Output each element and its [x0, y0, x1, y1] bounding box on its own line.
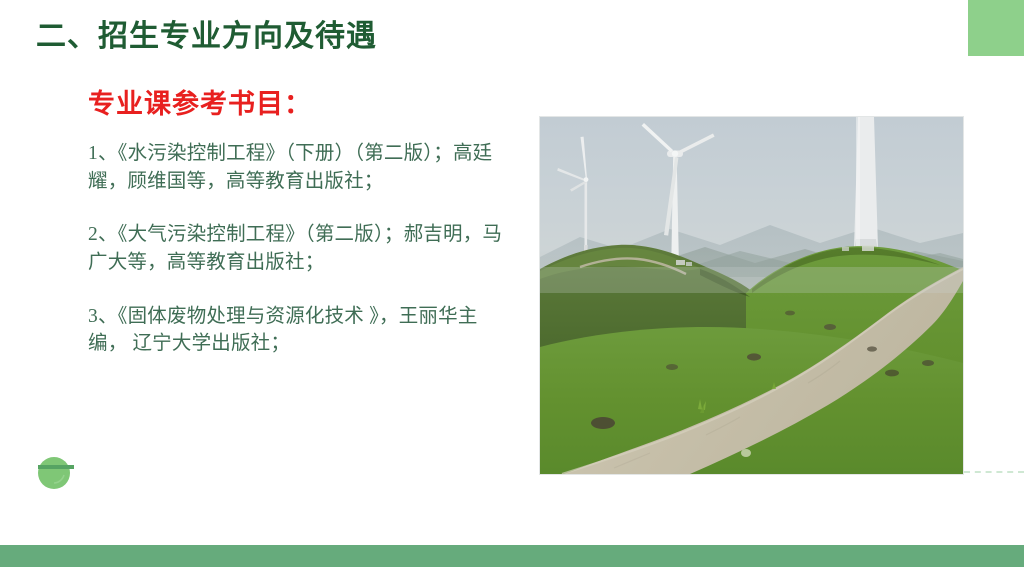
- list-item: 1、《水污染控制工程》（下册）（第二版）；高廷耀，顾维国等，高等教育出版社；: [88, 140, 508, 195]
- list-item: 3、《固体废物处理与资源化技术 》，王丽华主编， 辽宁大学出版社；: [88, 303, 508, 358]
- list-item: 2、《大气污染控制工程》（第二版）；郝吉明，马广大等，高等教育出版社；: [88, 221, 508, 276]
- wind-turbine-photo: [540, 117, 963, 474]
- bottom-green-bar: [0, 545, 1024, 567]
- pot-icon-graphic: [33, 453, 79, 491]
- wind-turbine-right: [854, 117, 878, 251]
- page-title: 二、招生专业方向及待遇: [36, 18, 377, 56]
- slide-canvas: 二、招生专业方向及待遇 专业课参考书目： 1、《水污染控制工程》（下册）（第二版…: [0, 0, 1024, 567]
- dashed-rule: [964, 471, 1024, 473]
- wind-turbine-photo-graphic: [540, 117, 963, 474]
- section-subtitle: 专业课参考书目：: [88, 88, 312, 122]
- corner-green-block: [968, 0, 1024, 56]
- pot-icon: [33, 453, 79, 491]
- reference-book-list: 1、《水污染控制工程》（下册）（第二版）；高廷耀，顾维国等，高等教育出版社； 2…: [88, 140, 508, 358]
